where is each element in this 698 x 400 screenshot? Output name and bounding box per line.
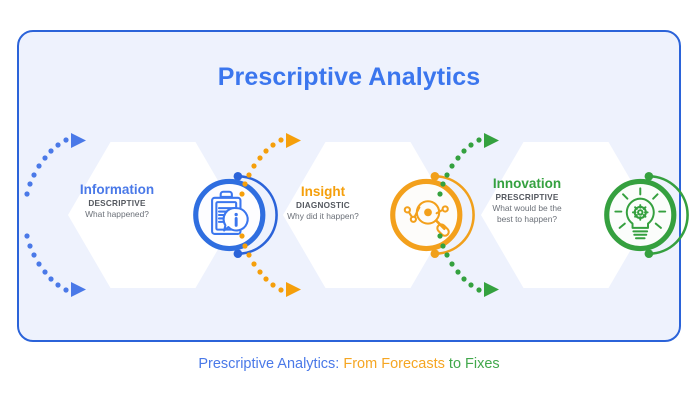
stage-text-insight: Insight DIAGNOSTIC Why did it happen? [253, 184, 393, 222]
stage-text-information: Information DESCRIPTIVE What happened? [42, 182, 192, 220]
stage-title-information: Information [42, 182, 192, 197]
stage-kind-insight: DIAGNOSTIC [253, 201, 393, 210]
stage-text-innovation: Innovation PRESCRIPTIVE What would be th… [453, 176, 601, 225]
page-title: Prescriptive Analytics [0, 63, 698, 92]
stage-kind-information: DESCRIPTIVE [42, 199, 192, 208]
stage-title-insight: Insight [253, 184, 393, 199]
stage-insight[interactable]: Insight DIAGNOSTIC Why did it happen? [245, 120, 470, 310]
stage-desc-insight: Why did it happen? [253, 211, 393, 222]
caption-part-3: to Fixes [449, 356, 500, 372]
infographic-root: Prescriptive Analytics [0, 0, 698, 400]
stage-desc-innovation-line1: What would be the [453, 203, 601, 214]
stage-kind-innovation: PRESCRIPTIVE [453, 193, 601, 202]
caption-part-1: Prescriptive Analytics: [198, 356, 339, 372]
stage-desc-information: What happened? [42, 209, 192, 220]
stage-innovation[interactable]: Innovation PRESCRIPTIVE What would be th… [443, 120, 683, 310]
stage-title-innovation: Innovation [453, 176, 601, 191]
badge-innovation[interactable] [599, 172, 685, 258]
stage-information[interactable]: Information DESCRIPTIVE What happened? [30, 120, 270, 310]
caption: Prescriptive Analytics: From Forecasts t… [0, 356, 698, 372]
caption-part-2: From Forecasts [343, 356, 445, 372]
stage-desc-innovation-line2: best to happen? [453, 214, 601, 225]
